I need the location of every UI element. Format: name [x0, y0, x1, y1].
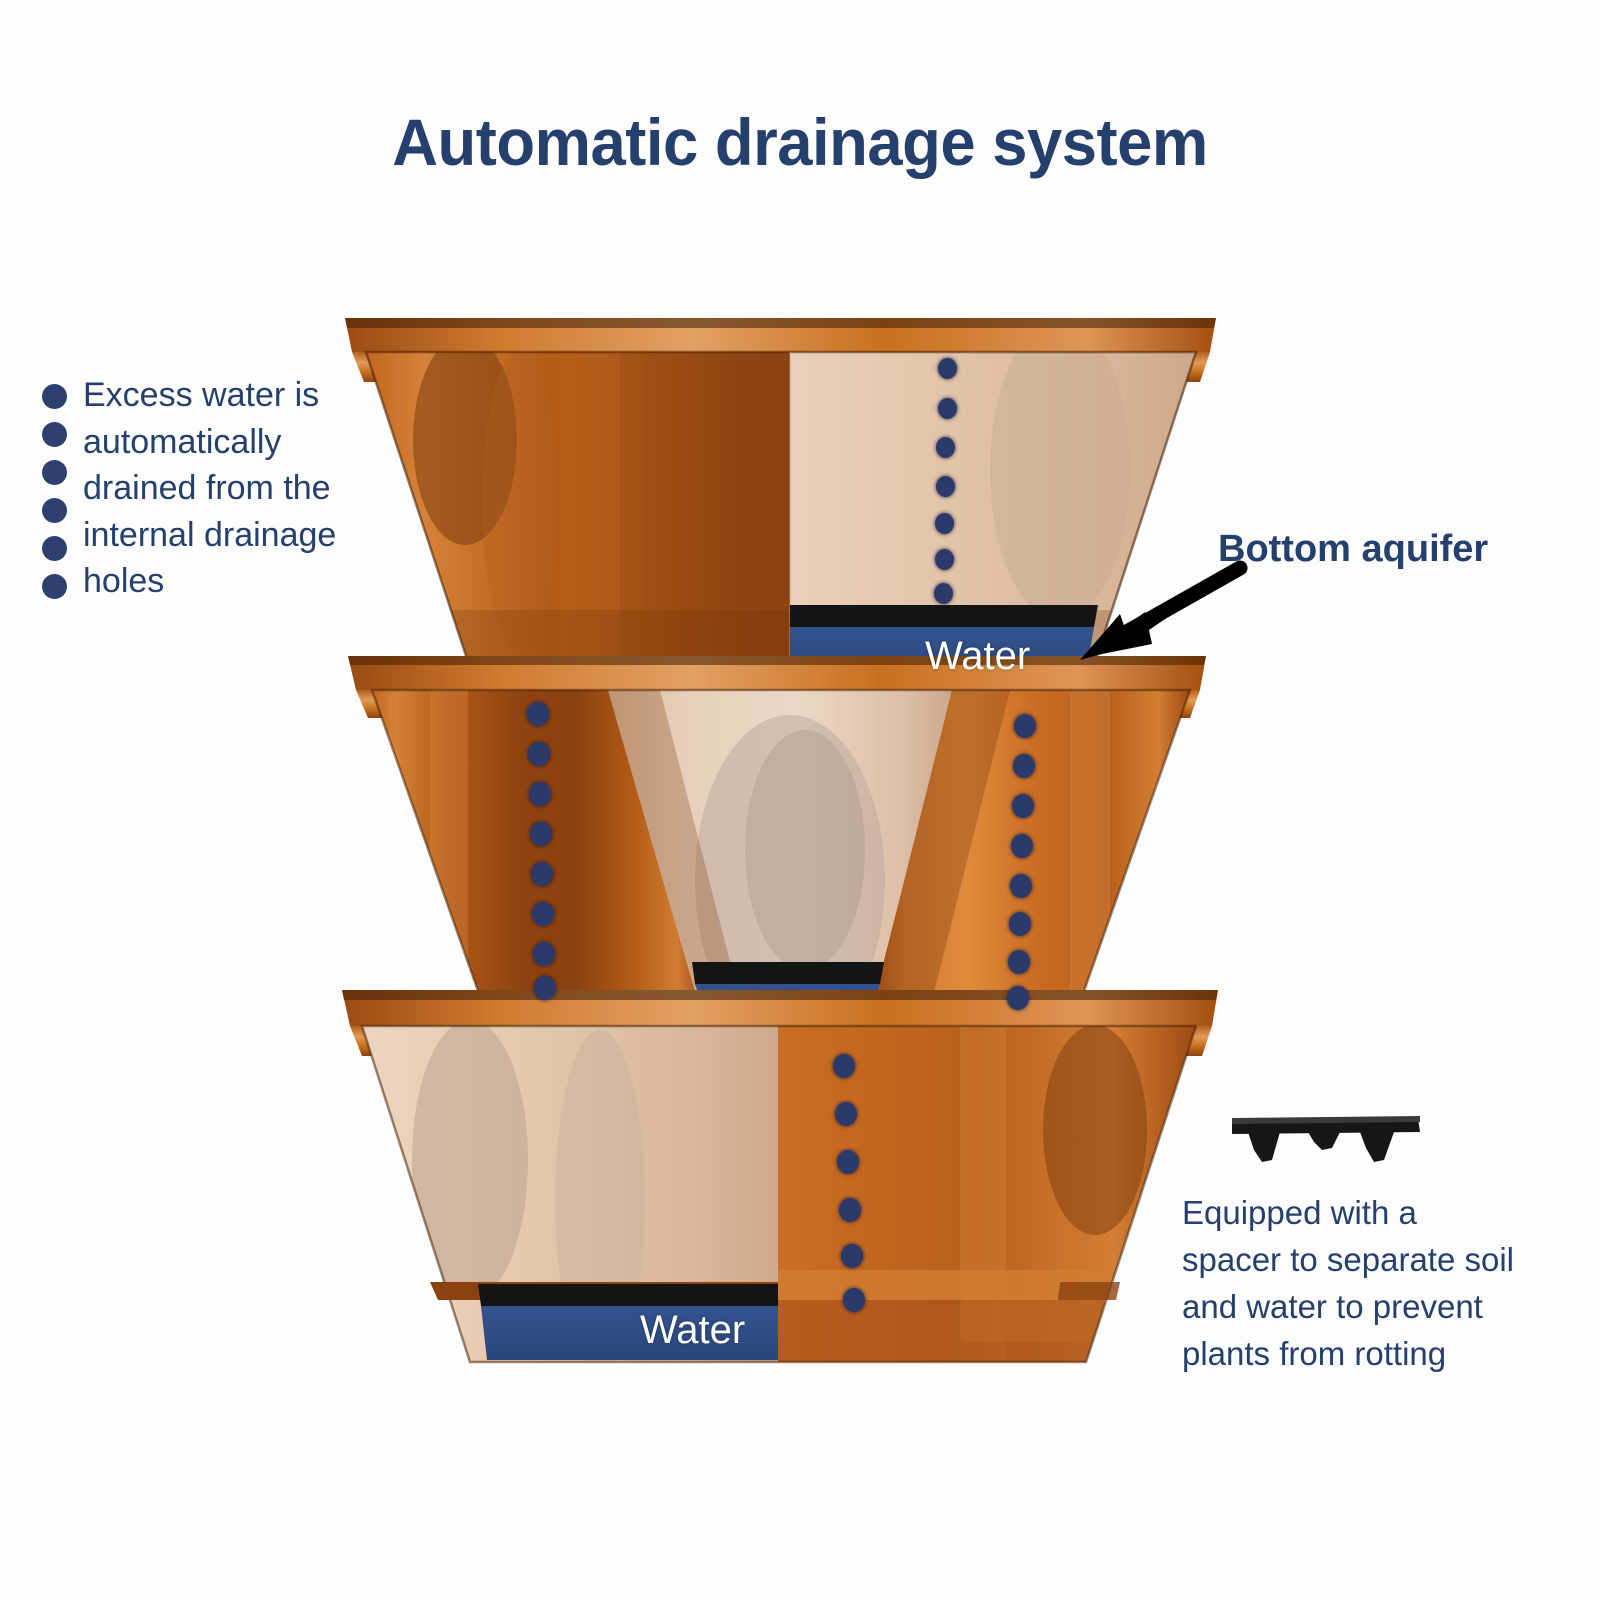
drainage-hole-icon: [532, 902, 554, 926]
middle-pot: [348, 656, 1206, 1045]
drainage-hole-icon: [841, 1244, 863, 1268]
drainage-hole-icon: [833, 1054, 855, 1078]
drainage-hole-icon: [531, 862, 553, 886]
drainage-hole-icon: [528, 742, 550, 766]
drainage-hole-icon: [1011, 834, 1033, 858]
drainage-hole-icon: [1013, 754, 1035, 778]
drainage-hole-icon: [534, 976, 556, 1000]
diagram-root: Automatic drainage system: [0, 0, 1600, 1600]
drainage-hole-icon: [1014, 714, 1036, 738]
bullet-dot-icon: [42, 498, 67, 523]
spacer-part-icon: [1232, 1116, 1420, 1162]
drainage-hole-icon: [1007, 986, 1029, 1010]
bullet-dot-icon: [42, 574, 67, 599]
bullet-dot-icon: [42, 384, 67, 409]
drainage-hole-icon: [938, 358, 957, 379]
drainage-hole-icon: [839, 1198, 861, 1222]
spacer-callout-text: Equipped with a spacer to separate soil …: [1182, 1190, 1522, 1377]
drainage-hole-icon: [1012, 794, 1034, 818]
aquifer-label: Bottom aquifer: [1218, 528, 1488, 571]
drainage-hole-icon: [530, 822, 552, 846]
left-callout-text: Excess water is automatically drained fr…: [83, 372, 336, 605]
bullet-dot-column: [42, 372, 67, 599]
bullet-dot-icon: [42, 460, 67, 485]
top-pot: [345, 318, 1216, 682]
drainage-hole-icon: [837, 1150, 859, 1174]
drainage-hole-icon: [533, 942, 555, 966]
drainage-hole-icon: [1009, 912, 1031, 936]
drainage-hole-icon: [527, 702, 549, 726]
left-callout: Excess water is automatically drained fr…: [42, 372, 372, 605]
drainage-hole-icon: [1010, 874, 1032, 898]
drainage-hole-icon: [1008, 950, 1030, 974]
bottom-pot: [342, 990, 1218, 1370]
drainage-hole-icon: [529, 782, 551, 806]
drainage-hole-icon: [936, 476, 955, 497]
drainage-hole-icon: [935, 549, 954, 570]
drainage-hole-icon: [835, 1102, 857, 1126]
bottom-pot-water-assembly: [478, 1284, 778, 1360]
bullet-dot-icon: [42, 422, 67, 447]
drainage-hole-icon: [935, 513, 954, 534]
bullet-dot-icon: [42, 536, 67, 561]
drainage-hole-icon: [938, 398, 957, 419]
drainage-hole-icon: [843, 1288, 865, 1312]
drainage-hole-icon: [936, 437, 955, 458]
drainage-hole-icon: [934, 583, 953, 604]
